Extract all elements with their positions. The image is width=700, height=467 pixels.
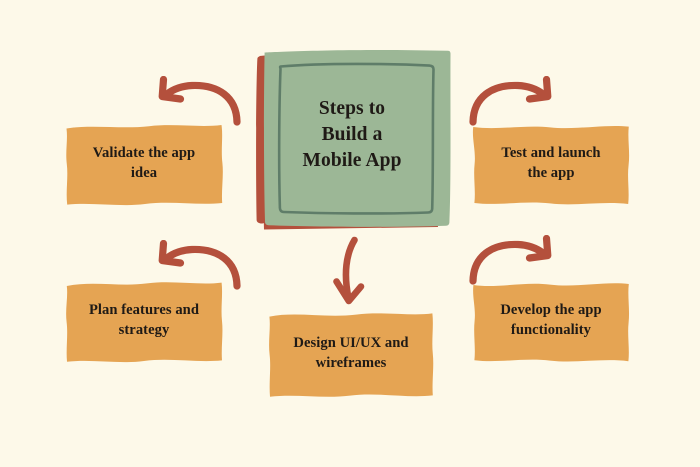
step-box-text: Validate the app idea — [63, 120, 225, 208]
step-line-1: Test and launch — [501, 145, 600, 161]
center-line-1: Steps to — [319, 98, 385, 119]
step-box-text: Design UI/UX and wireframes — [266, 308, 436, 400]
arrow-curve — [473, 85, 543, 122]
step-line-2: strategy — [119, 322, 170, 338]
step-box-test-and-launch-the-app[interactable]: Test and launch the app — [470, 120, 632, 208]
center-card: Steps to Build a Mobile App — [252, 42, 452, 232]
arrow-to-plan-features-icon — [148, 240, 244, 292]
step-box-develop-the-app-functionality[interactable]: Develop the app functionality — [470, 277, 632, 365]
arrow-to-develop-app-icon — [466, 235, 562, 287]
step-line-2: the app — [528, 165, 575, 181]
step-line-2: wireframes — [316, 355, 387, 371]
step-line-2: idea — [131, 165, 157, 181]
arrow-curve — [167, 85, 237, 122]
step-box-text: Test and launch the app — [470, 120, 632, 208]
arrow-curve — [473, 244, 543, 281]
arrow-curve — [167, 249, 237, 286]
arrow-shaft — [346, 240, 355, 298]
arrow-to-validate-icon — [148, 76, 244, 128]
center-line-2: Build a — [322, 124, 383, 145]
step-box-text: Develop the app functionality — [470, 277, 632, 365]
step-line-1: Plan features and — [89, 302, 199, 318]
arrow-to-design-ui-ux-icon — [332, 236, 372, 308]
center-line-3: Mobile App — [302, 150, 401, 171]
step-line-1: Design UI/UX and — [293, 335, 408, 351]
arrow-to-test-launch-icon — [466, 76, 562, 128]
step-box-validate-the-app-idea[interactable]: Validate the app idea — [63, 120, 225, 208]
step-box-design-ui-ux-and-wireframes[interactable]: Design UI/UX and wireframes — [266, 308, 436, 400]
step-line-1: Develop the app — [500, 302, 601, 318]
diagram-canvas: Steps to Build a Mobile App Validate the… — [0, 0, 700, 467]
step-line-2: functionality — [511, 322, 591, 338]
center-card-text: Steps to Build a Mobile App — [252, 42, 452, 232]
step-line-1: Validate the app — [93, 145, 195, 161]
